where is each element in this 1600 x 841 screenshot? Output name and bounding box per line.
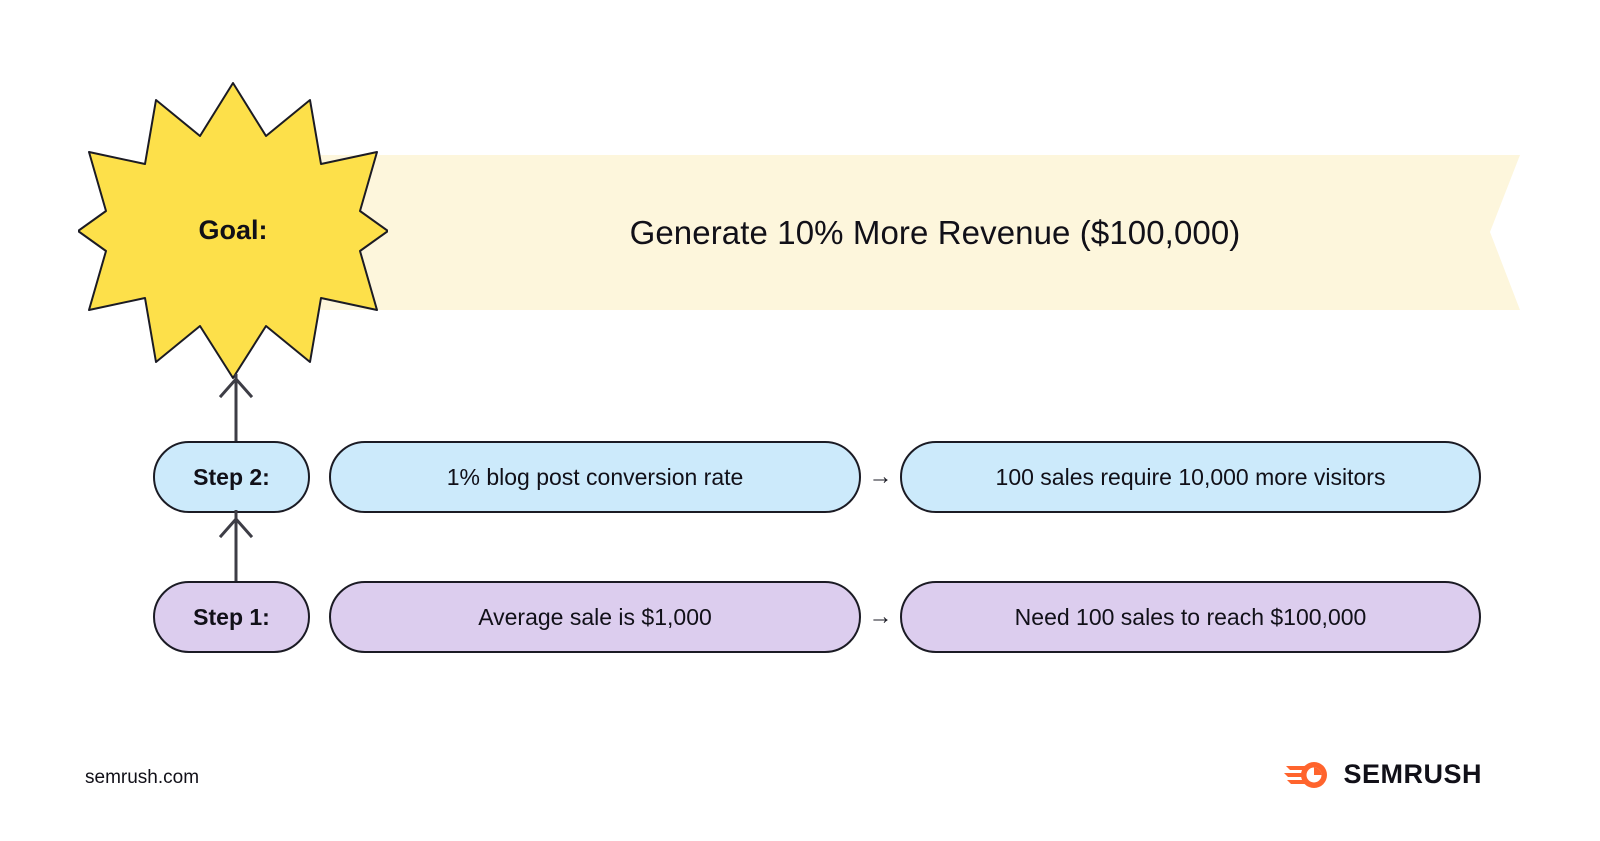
goal-banner-ribbon — [190, 155, 1520, 310]
step-1-premise-pill[interactable]: Average sale is $1,000 — [329, 581, 861, 653]
footer-site-url[interactable]: semrush.com — [85, 767, 199, 789]
arrow-right-icon-step-1: → — [861, 581, 900, 653]
semrush-comet-icon — [1284, 757, 1332, 791]
semrush-logo[interactable]: SEMRUSH — [1284, 757, 1482, 791]
infographic-canvas: Generate 10% More Revenue ($100,000) Goa… — [0, 0, 1600, 841]
step-2-conclusion-pill[interactable]: 100 sales require 10,000 more visitors — [900, 441, 1481, 513]
arrow-right-icon-step-2: → — [861, 441, 900, 513]
semrush-logo-wordmark: SEMRUSH — [1343, 761, 1482, 788]
connector-step2-to-goal — [196, 370, 276, 450]
goal-section: Generate 10% More Revenue ($100,000) Goa… — [0, 0, 1600, 400]
step-row-step-1: Step 1: Average sale is $1,000 → Need 10… — [0, 580, 1600, 654]
step-1-conclusion-pill[interactable]: Need 100 sales to reach $100,000 — [900, 581, 1481, 653]
goal-starburst-badge — [78, 78, 388, 383]
step-row-step-2: Step 2: 1% blog post conversion rate → 1… — [0, 440, 1600, 514]
step-2-premise-pill[interactable]: 1% blog post conversion rate — [329, 441, 861, 513]
step-label-pill-step-1[interactable]: Step 1: — [153, 581, 310, 653]
step-label-pill-step-2[interactable]: Step 2: — [153, 441, 310, 513]
connector-step1-to-step2 — [196, 508, 276, 590]
